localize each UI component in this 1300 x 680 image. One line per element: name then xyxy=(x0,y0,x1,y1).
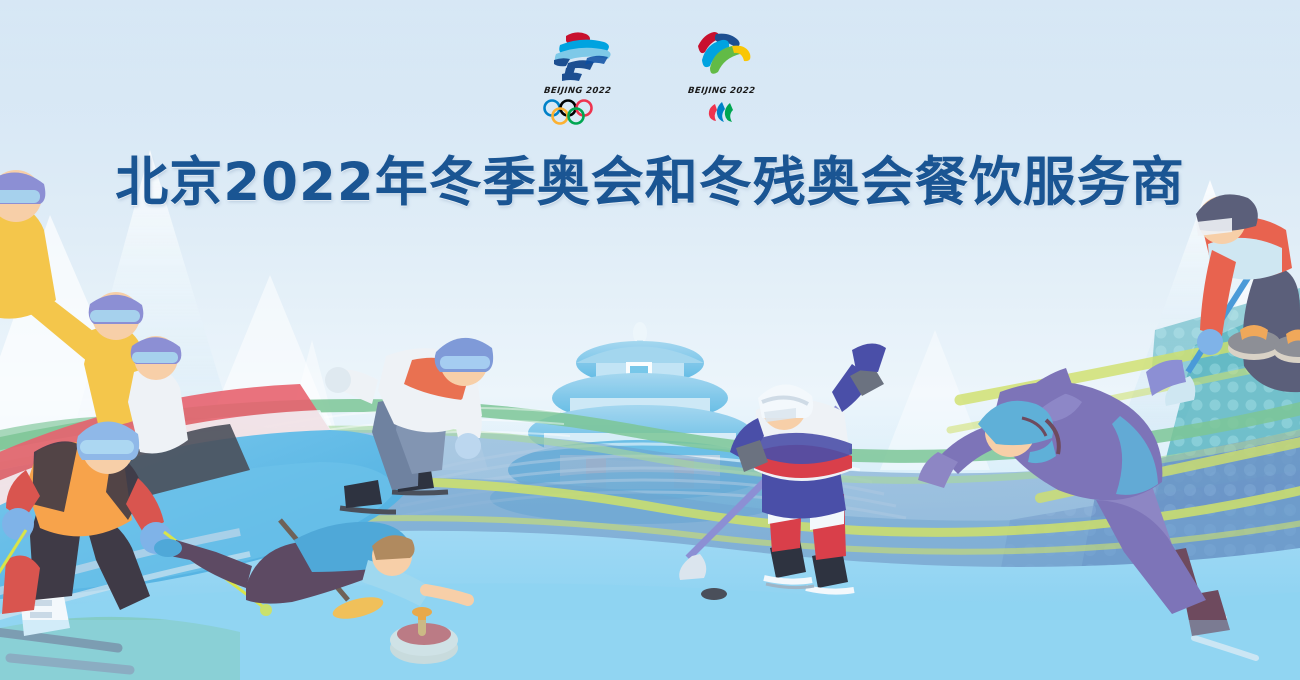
curling-stone xyxy=(1274,330,1300,364)
beijing-2022-olympic-emblem: BEIJING 2022 xyxy=(532,30,624,125)
green-hills xyxy=(0,415,360,680)
ice-hockey-player xyxy=(679,343,886,600)
ribbons xyxy=(0,328,1300,556)
beijing-2022-paralympic-emblem: BEIJING 2022 xyxy=(676,30,768,125)
haze-lines xyxy=(392,444,906,518)
short-track-skater xyxy=(325,338,493,512)
curler-sweeper xyxy=(1146,194,1300,406)
speed-skater xyxy=(918,368,1256,658)
paralympic-wordmark: BEIJING 2022 xyxy=(688,86,756,96)
speed-lines xyxy=(0,464,360,546)
bobsled-team xyxy=(0,170,420,624)
halftone-blocks xyxy=(980,288,1300,680)
paralympic-emblem-mark xyxy=(676,30,768,84)
agitos-icon xyxy=(682,99,762,125)
emblem-row: BEIJING 2022 BEIJING 2022 xyxy=(0,30,1300,125)
curling-stone xyxy=(1228,325,1280,360)
olympic-rings-icon xyxy=(538,99,618,125)
curling-stone xyxy=(390,607,458,664)
page-title: 北京2022年冬季奥会和冬残奥会餐饮服务商 xyxy=(0,140,1300,216)
ice-field xyxy=(0,430,1300,680)
page-title-text: 北京2022年冬季奥会和冬残奥会餐饮服务商 xyxy=(115,140,1185,216)
alpine-skier xyxy=(0,421,272,670)
beijing-2022-banner: BEIJING 2022 BEIJING 2022 xyxy=(0,0,1300,680)
speed-lines-left-upper xyxy=(240,408,570,456)
temple-of-heaven xyxy=(490,322,790,524)
olympic-wordmark: BEIJING 2022 xyxy=(544,86,612,96)
curler-delivery xyxy=(154,520,468,664)
olympic-emblem-mark xyxy=(532,30,624,84)
